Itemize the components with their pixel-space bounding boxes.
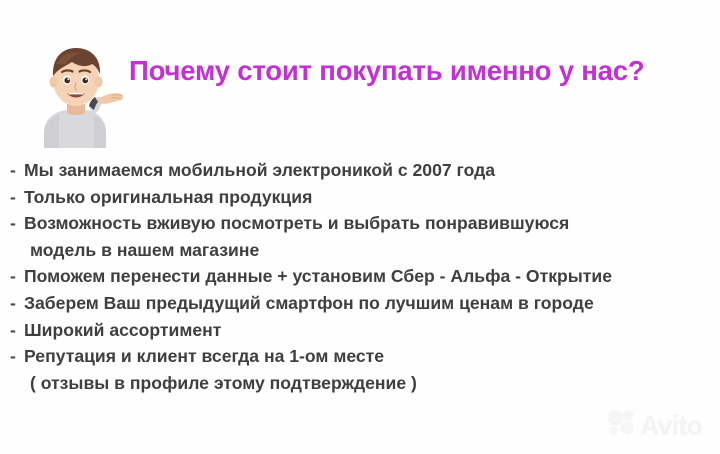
bullet-dash: - [10, 343, 24, 370]
promo-card: Почему стоит покупать именно у нас? - Мы… [0, 0, 720, 454]
list-item-text: Только оригинальная продукция [24, 184, 312, 211]
list-item-text: Заберем Ваш предыдущий смартфон по лучши… [24, 290, 594, 317]
bullet-dash: - [10, 317, 24, 344]
list-item-text-continuation: ( отзывы в профиле этому подтверждение ) [10, 370, 710, 397]
bullet-dash: - [10, 263, 24, 290]
avito-watermark: Avito [607, 409, 702, 440]
avito-dots-logo-icon [607, 409, 636, 440]
benefits-list: - Мы занимаемся мобильной электроникой с… [10, 157, 710, 396]
list-item: - Широкий ассортимент [10, 317, 710, 344]
bullet-dash: - [10, 184, 24, 211]
list-item: - Заберем Ваш предыдущий смартфон по луч… [10, 290, 710, 317]
page-title: Почему стоит покупать именно у нас? [129, 54, 699, 88]
list-item-text: Репутация и клиент всегда на 1-ом месте [24, 343, 384, 370]
list-item-text: Широкий ассортимент [24, 317, 221, 344]
list-item: - Мы занимаемся мобильной электроникой с… [10, 157, 710, 184]
list-item-text: Поможем перенести данные + установим Сбе… [24, 263, 612, 290]
list-item-text: Мы занимаемся мобильной электроникой с 2… [24, 157, 495, 184]
list-item: - Возможность вживую посмотреть и выбрат… [10, 210, 710, 263]
list-item: - Репутация и клиент всегда на 1-ом мест… [10, 343, 710, 396]
avito-wordmark: Avito [640, 412, 702, 438]
card-header: Почему стоит покупать именно у нас? [0, 36, 720, 146]
list-item-text: Возможность вживую посмотреть и выбрать … [24, 210, 569, 237]
bullet-dash: - [10, 157, 24, 184]
list-item: - Поможем перенести данные + установим С… [10, 263, 710, 290]
list-item: - Только оригинальная продукция [10, 184, 710, 211]
bullet-dash: - [10, 290, 24, 317]
bullet-dash: - [10, 210, 24, 237]
list-item-text-continuation: модель в нашем магазине [10, 237, 710, 264]
man-tipping-hand-emoji-icon [26, 40, 126, 148]
